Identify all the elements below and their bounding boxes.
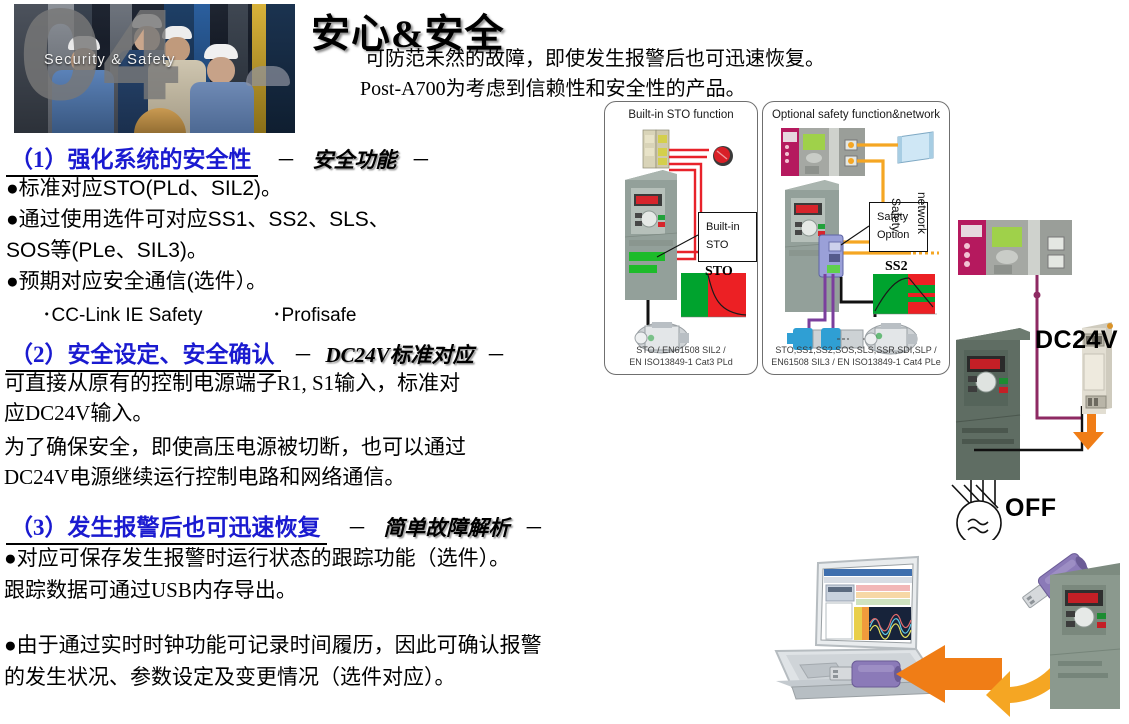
section-1-line-2: ●通过使用选件可对应SS1、SS2、SLS、 bbox=[6, 207, 390, 233]
section-1-subitem-2: ･Profisafe bbox=[272, 300, 356, 327]
section-2-line-2: 应DC24V输入。 bbox=[4, 400, 153, 426]
panel-left-caption-line-2: EN ISO13849-1 Cat3 PLd bbox=[605, 356, 757, 368]
dc24v-label: DC24V bbox=[1035, 326, 1118, 355]
section-2-subtitle: DC24V标准对应 bbox=[325, 343, 473, 367]
section-2-dash-right: － bbox=[486, 345, 506, 367]
section-3-line-4: 的发生状况、参数设定及变更情况（选件对应）。 bbox=[4, 664, 456, 690]
section-2-heading: （2）安全设定、安全确认 bbox=[6, 335, 281, 372]
section-2-line-1: 可直接从原有的控制电源端子R1, S1输入，标准对 bbox=[4, 370, 460, 396]
section-3-line-2: 跟踪数据可通过USB内存导出。 bbox=[4, 577, 297, 603]
section-3-line-3: ●由于通过实时时钟功能可记录时间履历，因此可确认报警 bbox=[4, 632, 542, 658]
panel-right-graph-label: SS2 bbox=[885, 259, 908, 275]
section-1-dash-right: － bbox=[411, 150, 431, 172]
section-1-line-4: ●预期对应安全通信(选件）。 bbox=[6, 269, 267, 295]
section-2-heading-row: （2）安全设定、安全确认 － DC24V标准对应 － bbox=[6, 335, 506, 372]
section-2-line-3: 为了确保安全，即使高压电源被切断，也可以通过 bbox=[4, 434, 466, 460]
lead-line-1: 可防范未然的故障，即使发生报警后也可迅速恢复。 bbox=[365, 42, 825, 71]
panel-left-callout: Built-in STO bbox=[698, 212, 757, 262]
section-1-subtitle: 安全功能 bbox=[312, 148, 396, 172]
panel-left-caption-line-1: STO / EN61508 SIL2 / bbox=[605, 344, 757, 356]
section-3-heading: （3）发生报警后也可迅速恢复 bbox=[6, 508, 327, 545]
panel-right-caption-line-2: EN61508 SIL3 / EN ISO13849-1 Cat4 PLe bbox=[763, 356, 949, 368]
header-kicker: Security & Safety bbox=[44, 52, 176, 68]
panel-right-vertical-label-2: network bbox=[915, 192, 929, 234]
section-1-line-3: SOS等(PLe、SIL3)。 bbox=[6, 238, 208, 264]
off-label: OFF bbox=[1005, 494, 1057, 523]
section-1-heading: （1）强化系统的安全性 bbox=[6, 140, 258, 177]
panel-left-graph-label: STO bbox=[705, 264, 733, 280]
panel-left-caption: STO / EN61508 SIL2 / EN ISO13849-1 Cat3 … bbox=[605, 344, 757, 368]
section-1-subitem-1: ･CC-Link IE Safety bbox=[42, 300, 203, 327]
dc24v-schematic bbox=[930, 210, 1129, 540]
panel-right-caption-line-1: STO,SS1,SS2,SOS,SLS,SSR,SDI,SLP / bbox=[763, 344, 949, 356]
section-3-subtitle: 简单故障解析 bbox=[383, 516, 509, 540]
usb-trace-export-illustration bbox=[740, 545, 1129, 724]
diagram-panel-optional-safety: Optional safety function&network bbox=[762, 101, 950, 375]
header-photo: 04 Security & Safety bbox=[14, 4, 295, 133]
panel-left-callout-line-2: STO bbox=[706, 237, 756, 255]
section-3-line-1: ●对应可保存发生报警时运行状态的跟踪功能（选件）。 bbox=[4, 545, 510, 571]
section-2-line-4: DC24V电源继续运行控制电路和网络通信。 bbox=[4, 464, 405, 490]
section-3-dash-right: － bbox=[524, 518, 544, 540]
section-2-dash-left: － bbox=[293, 345, 313, 367]
section-3-dash-left: － bbox=[347, 518, 367, 540]
section-1-dash-left: － bbox=[276, 150, 296, 172]
panel-right-caption: STO,SS1,SS2,SOS,SLS,SSR,SDI,SLP / EN6150… bbox=[763, 344, 949, 368]
section-1-line-1: ●标准对应STO(PLd、SIL2)。 bbox=[6, 176, 282, 202]
panel-left-callout-line-1: Built-in bbox=[706, 219, 756, 237]
lead-line-2: Post-A700为考虑到信赖性和安全性的产品。 bbox=[360, 72, 746, 101]
panel-right-vertical-label-1: Safety bbox=[889, 198, 903, 232]
diagram-panel-builtin-sto: Built-in STO function bbox=[604, 101, 758, 375]
section-3-heading-row: （3）发生报警后也可迅速恢复 － 简单故障解析 － bbox=[6, 508, 544, 545]
section-1-heading-row: （1）强化系统的安全性 － 安全功能 － bbox=[6, 140, 431, 177]
